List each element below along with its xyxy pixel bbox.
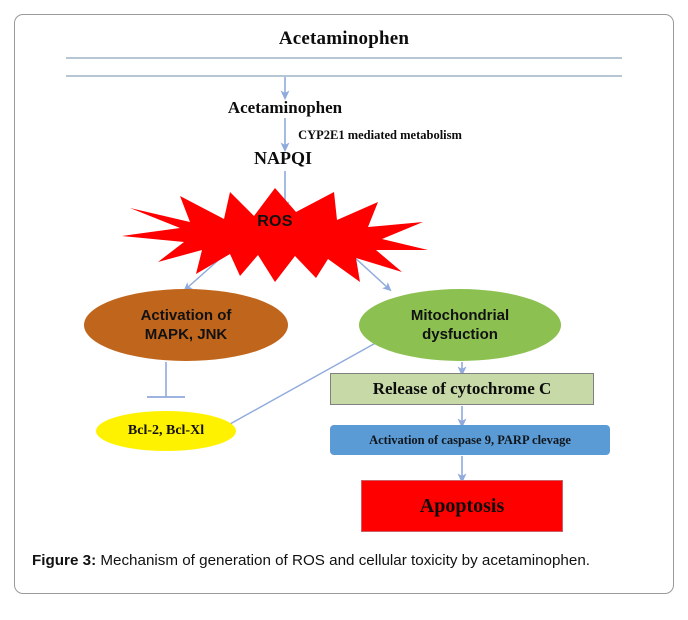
ros-starburst-shape xyxy=(120,186,430,282)
figure-caption-label: Figure 3: xyxy=(32,552,96,569)
node-release-cytochrome-c: Release of cytochrome C xyxy=(330,373,594,405)
mapk-line-1: Activation of xyxy=(141,306,232,325)
mitochondrial-text-block: Mitochondrial dysfuction xyxy=(411,306,509,344)
node-apoptosis: Apoptosis xyxy=(361,480,563,532)
node-caspase9-parp: Activation of caspase 9, PARP clevage xyxy=(330,425,610,455)
node-bcl2-bclxl: Bcl-2, Bcl-Xl xyxy=(96,411,236,451)
node-ros-label: ROS xyxy=(120,213,430,231)
diagram-canvas: Acetaminophen Acetaminophen CYP2E1 media… xyxy=(0,0,688,545)
figure-caption: Figure 3: Mechanism of generation of ROS… xyxy=(32,551,658,572)
figure-container: Acetaminophen Acetaminophen CYP2E1 media… xyxy=(0,0,688,620)
mapk-line-2: MAPK, JNK xyxy=(141,325,232,344)
mitochondrial-line-2: dysfuction xyxy=(411,325,509,344)
node-napqi: NAPQI xyxy=(0,148,566,169)
node-acetaminophen-intracellular: Acetaminophen xyxy=(0,98,570,118)
figure-caption-text: Mechanism of generation of ROS and cellu… xyxy=(96,552,590,569)
node-acetaminophen-extracellular: Acetaminophen xyxy=(0,28,688,50)
node-mitochondrial-dysfunction: Mitochondrial dysfuction xyxy=(359,289,561,361)
node-mapk-activation: Activation of MAPK, JNK xyxy=(84,289,288,361)
edge-label-cyp2e1-metabolism: CYP2E1 mediated metabolism xyxy=(0,128,688,143)
mitochondrial-line-1: Mitochondrial xyxy=(411,306,509,325)
membrane-line-outer xyxy=(66,57,622,59)
mapk-text-block: Activation of MAPK, JNK xyxy=(141,306,232,344)
membrane-line-inner xyxy=(66,75,622,77)
